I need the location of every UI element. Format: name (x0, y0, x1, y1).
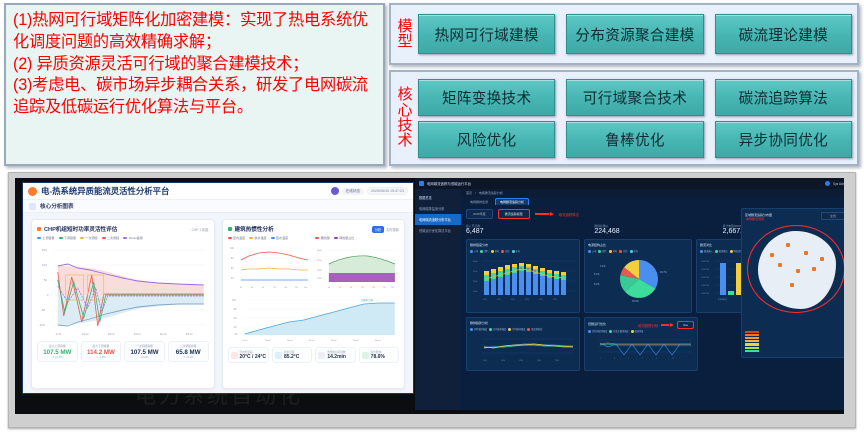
legend-label: 上调容量 (43, 236, 55, 240)
breadcrumb-sep: / (475, 191, 476, 195)
env-value: 20°C / 24°C (240, 354, 267, 360)
metric-label: 二次调频容量 (170, 344, 207, 348)
light-dashboard-title: 电-热系统异质能流灵活性分析平台 (41, 185, 169, 197)
legend-item: 水电 (512, 249, 520, 253)
svg-text:12h: 12h (361, 287, 364, 289)
legend-item: 上调容量 (37, 236, 55, 240)
core-tech-band: 核 心 技 术 矩阵变换技术 可行域聚合技术 碳流追踪算法 风险优化 鲁棒优化 … (389, 70, 859, 166)
tech-box-3[interactable]: 风险优化 (418, 121, 555, 158)
dark-dashboard-title: 电网碳流追踪与低碳运行平台 (427, 181, 471, 186)
pie-label-1: 36.9% (632, 300, 640, 303)
svg-text:5: 5 (628, 358, 629, 360)
tech-box-row-1: 矩阵变换技术 可行域聚合技术 碳流追踪算法 (418, 79, 852, 116)
svg-text:1,000,000: 1,000,000 (701, 293, 709, 295)
legend-label: 回水温度 (276, 236, 288, 240)
dark-dashboard: 电网碳流追踪与低碳运行平台 Sys Admin 数据总览 电网碳排监测分析 电网… (415, 178, 844, 410)
heat-area-chart: 4000300020001000 0h4h8h12h16h20h24h (315, 242, 399, 292)
carbon-trend-line-chart: 00:0006:0012:0018:0023:00 (470, 333, 578, 363)
model-box-1[interactable]: 分布资源聚合建模 (566, 14, 703, 54)
svg-text:80: 80 (233, 308, 236, 311)
env-value: 85.2°C (284, 354, 299, 360)
metric-label: 一次调频容量 (126, 344, 163, 348)
tech-label-char-0: 核 (397, 87, 412, 102)
svg-text:100: 100 (231, 299, 236, 302)
building-card-title: 建筑热惯性分析 (235, 225, 274, 233)
svg-text:100: 100 (229, 247, 234, 250)
breadcrumb-home[interactable]: 首页 (466, 191, 472, 195)
svg-text:40: 40 (230, 277, 233, 280)
model-box-2[interactable]: 碳流理论建模 (715, 14, 852, 54)
light-dashboard-header: 电-热系统异质能流灵活性分析平台 在线状态 2025/06/30 15:47:2… (23, 183, 413, 200)
svg-text:3: 3 (614, 358, 615, 360)
legend-label: 火电 (592, 249, 596, 253)
stat-value: 224,468 (594, 228, 718, 235)
optimization-line-chart: 1357911 (588, 335, 696, 361)
legend-item: 实时碳排强度 (470, 327, 487, 331)
map-node[interactable] (790, 283, 794, 287)
svg-text:2,500,000: 2,500,000 (701, 269, 709, 271)
status-badge: 在线状态 (342, 188, 364, 195)
legend-item: 碳流输入 (700, 249, 713, 253)
legend-item: 蓄热量 (315, 236, 330, 240)
svg-text:1: 1 (600, 358, 601, 360)
pie-label-2: 8.2% (594, 283, 600, 286)
env-metric: 室内外温差 20°C / 24°C (228, 347, 270, 363)
legend-item: 一次调频 (80, 236, 98, 240)
annotation-arrow-filter (535, 212, 554, 216)
metric-value: 107.5 MW (126, 349, 163, 356)
legend-label: 燃气 (602, 249, 606, 253)
metric-card: 最大下调容量 114.2 MW ↘ -1.8% (81, 341, 122, 362)
svg-text:3000: 3000 (317, 260, 323, 262)
stat-nodes: 接入节点数 6,487 (466, 224, 590, 235)
svg-text:4000: 4000 (473, 261, 478, 263)
building-legend-right: 蓄热量 释热量占比 (315, 236, 399, 240)
flame-icon (28, 187, 37, 196)
legend-label: 光伏 (623, 249, 627, 253)
legend-label: 月均碳排强度 (512, 327, 525, 331)
clock-icon (318, 352, 325, 359)
legend-item: 碳流基准线 (527, 327, 542, 331)
svg-text:50min: 50min (352, 340, 359, 342)
svg-text:80: 80 (230, 257, 233, 260)
svg-text:8h: 8h (350, 287, 352, 289)
annotation-line-label: 碳流趋势分析 (638, 323, 658, 328)
metric-label: 最大上调容量 (39, 344, 76, 348)
carbon-trend-panel: 碳排趋势分析 实时碳排强度 日均碳排强度 月均碳排强度 碳流基准线 (466, 317, 580, 371)
chp-card-header-right: CHP-1 机组 (192, 227, 209, 232)
water-drop-icon (275, 352, 282, 359)
panel-title: 碳排趋势分析 (470, 321, 576, 325)
svg-text:20: 20 (234, 333, 237, 336)
legend-label: 优化前碳排强度 (592, 329, 607, 333)
legend-label: 水电 (516, 249, 520, 253)
legend-label: 水电 (634, 249, 638, 253)
achievement-line-3: (3)考虑电、碳市场异步耦合关系，研发了电网碳流追踪及低碳运行优化算法与平台。 (13, 75, 377, 119)
tech-label-char-3: 术 (397, 133, 412, 148)
env-value: 14.2min (327, 354, 346, 360)
metric-value: 114.2 MW (83, 349, 120, 356)
metric-sub: +0.9% (126, 356, 163, 359)
svg-text:3000: 3000 (473, 271, 478, 273)
metric-card: 二次调频容量 65.8 MW ↗ +3.1% (168, 341, 209, 362)
svg-text:10min: 10min (82, 332, 90, 336)
svg-text:06:00: 06:00 (501, 360, 505, 362)
legend-item: 光伏 (619, 249, 627, 253)
light-dashboard-header-right: 在线状态 2025/06/30 15:47:23 (331, 187, 408, 195)
map-annotation-label: 电网碳流溯源 (746, 217, 764, 221)
svg-text:30min: 30min (308, 340, 315, 342)
legend-label: 碳流输出 (719, 249, 728, 253)
legend-label: 火电 (474, 249, 478, 253)
legend-label: 优化后碳排强度 (613, 329, 628, 333)
metric-card: 一次调频容量 107.5 MW +0.9% (124, 341, 165, 362)
svg-text:60: 60 (230, 267, 233, 270)
svg-text:18:00: 18:00 (537, 360, 541, 362)
svg-text:05月: 05月 (511, 297, 515, 301)
map-node[interactable] (804, 251, 808, 255)
legend-item: 优化后碳排强度 (609, 329, 628, 333)
cumulative-saving-area-chart: 10080604020 节能率上限 0min10min20min30min 40… (228, 294, 400, 344)
svg-text:03月: 03月 (497, 297, 501, 301)
svg-text:0h: 0h (328, 287, 330, 289)
env-metric: 综合能效 78.6% (359, 347, 399, 363)
svg-text:0min: 0min (242, 340, 248, 342)
metric-sub: ↗ +3.1% (170, 356, 207, 359)
power-mix-panel: 电源结构占比 火电 燃气 风电 光伏 水电 (584, 239, 692, 313)
svg-text:40min: 40min (330, 340, 337, 342)
tech-label-char-1: 心 (397, 103, 412, 118)
dark-dashboard-topbar-right: Sys Admin (825, 181, 844, 186)
avatar[interactable] (825, 181, 830, 186)
svg-text:11: 11 (672, 358, 674, 360)
dark-tabs: 电网碳排监测 电网碳流追踪分析 (461, 197, 844, 206)
chp-metrics: 最大上调容量 107.5 MW ↗ +2.3% 最大下调容量 114.2 MW … (37, 341, 209, 362)
svg-text:0min: 0min (56, 332, 62, 336)
legend-item: 回水温度 (271, 236, 289, 240)
svg-text:12h: 12h (272, 287, 275, 289)
opt-select[interactable]: line (677, 321, 694, 329)
map-node[interactable] (796, 269, 800, 273)
core-tech-band-label: 核 心 技 术 (394, 76, 416, 160)
pie-label-4: 3.1% (600, 265, 606, 268)
legend-label: 释热量占比 (339, 236, 354, 240)
screenshot-canvas: 电力系统自动化 电-热系统异质能流灵活性分析平台 在线状态 2025/06/30… (15, 178, 844, 414)
legend-item: 火电 (470, 249, 478, 253)
legend-label: 一次调频 (86, 236, 98, 240)
chp-card-header: CHP机组短时功率灵活性评估 CHP-1 机组 (37, 225, 209, 233)
map-node[interactable] (770, 253, 774, 257)
svg-text:24h: 24h (391, 287, 394, 289)
svg-text:10min: 10min (264, 340, 271, 342)
tech-box-5[interactable]: 异步协同优化 (715, 121, 852, 158)
tech-box-4[interactable]: 鲁棒优化 (566, 121, 703, 158)
core-tech-band-body: 矩阵变换技术 可行域聚合技术 碳流追踪算法 风险优化 鲁棒优化 异步协同优化 (416, 76, 852, 160)
svg-text:2000: 2000 (473, 281, 478, 283)
svg-text:20min: 20min (286, 340, 293, 342)
building-card-header: 建筑热惯性分析 分析 实时更新 (228, 225, 400, 233)
bar-icon (362, 352, 369, 359)
stacked-bar-chart: 4000300020001000 01月03月05月07月09月11月 (470, 255, 578, 303)
metric-label: 最大下调容量 (83, 344, 120, 348)
achievement-line-2: (2) 异质资源灵活可行域的聚合建模技术； (13, 54, 377, 76)
chart-icon (29, 203, 36, 210)
annotation-arrow-line (661, 323, 674, 327)
building-legend-left: 室内温度 供水温度 回水温度 (228, 236, 312, 240)
breadcrumb-current: 电网碳流追踪分析 (479, 191, 503, 195)
dark-dashboard-main: 数据总览 电网碳排监测分析 电网碳流追踪分析平台 低碳运行优化算法平台 首页 /… (415, 189, 844, 410)
metric-sub: ↗ +2.3% (39, 356, 76, 359)
breadcrumb: 首页 / 电网碳流追踪分析 (461, 189, 844, 197)
timestamp: 2025/06/30 15:47:23 (367, 187, 408, 195)
metric-sub: ↘ -1.8% (83, 356, 120, 359)
svg-text:20h: 20h (294, 287, 297, 289)
svg-text:07月: 07月 (525, 297, 529, 301)
chp-legend: 上调容量 下调容量 一次调频 二次调频 15min备用 (37, 236, 209, 240)
legend-item: 燃气 (598, 249, 606, 253)
svg-text:7: 7 (642, 358, 643, 360)
area-chart-annotation: 节能率上限 (360, 298, 373, 302)
legend-label: 风电 (495, 249, 499, 253)
legend-item: 日均碳排强度 (489, 327, 506, 331)
legend-label: 碳减排量 (635, 329, 644, 333)
tech-box-1[interactable]: 可行域聚合技术 (566, 79, 703, 116)
legend-item: 下调容量 (59, 236, 77, 240)
legend-item: 水电 (630, 249, 638, 253)
screenshot-frame: 电力系统自动化 电-热系统异质能流灵活性分析平台 在线状态 2025/06/30… (8, 172, 856, 428)
svg-text:4h: 4h (250, 287, 252, 289)
svg-text:-100: -100 (39, 323, 45, 327)
map-node[interactable] (812, 267, 816, 271)
svg-text:60: 60 (233, 317, 236, 320)
legend-item: 碳流输出 (715, 249, 728, 253)
svg-text:40min: 40min (160, 332, 168, 336)
dark-dashboard-topbar: 电网碳流追踪与低碳运行平台 Sys Admin (415, 178, 844, 189)
svg-text:2000: 2000 (317, 270, 323, 272)
svg-text:2,000,000: 2,000,000 (701, 277, 709, 279)
panel-title: 碳排强度分布 (470, 243, 576, 247)
model-box-row: 热网可行域建模 分布资源聚合建模 碳流理论建模 (418, 14, 852, 54)
legend-item: 燃气 (480, 249, 488, 253)
carbon-map-panel: 区域碳流追踪分布图 全省 电网碳流溯源 (741, 208, 844, 358)
legend-item: 月均碳排强度 (508, 327, 525, 331)
user-name: Sys Admin (833, 182, 844, 186)
sidebar-group-overview[interactable]: 数据总览 (415, 192, 461, 203)
model-band-label: 模 型 (394, 9, 416, 59)
tab-carbon-flow[interactable]: 电网碳流追踪分析 (495, 198, 529, 205)
sidebar-item-low-carbon-opt[interactable]: 低碳运行优化算法平台 (415, 225, 461, 236)
thermometer-icon (231, 352, 238, 359)
svg-text:00:00: 00:00 (483, 360, 487, 362)
svg-text:100: 100 (42, 263, 47, 267)
chp-flexibility-chart: 15010050 0-50-100 (37, 242, 209, 338)
legend-item: 风电 (609, 249, 617, 253)
legend-item: 15min备用 (123, 236, 143, 240)
svg-text:4h: 4h (339, 287, 341, 289)
sidebar-item-carbon-flow[interactable]: 电网碳流追踪分析平台 (415, 214, 461, 225)
metric-value: 65.8 MW (170, 349, 207, 356)
legend-label: 燃气 (484, 249, 488, 253)
legend-item: 供水温度 (249, 236, 267, 240)
legend-item: 碳减排量 (631, 329, 644, 333)
svg-text:24h: 24h (303, 287, 306, 289)
model-label-char-0: 模 (397, 19, 412, 34)
legend-item: 风电 (491, 249, 499, 253)
svg-text:0h: 0h (239, 287, 241, 289)
svg-text:50min: 50min (186, 332, 194, 336)
svg-text:150: 150 (42, 248, 47, 252)
legend-item: 室内温度 (228, 236, 246, 240)
stat-emission: 碳排总量(t) 224,468 (594, 224, 718, 235)
annotation-filter-label: 碳流追踪算法 (559, 212, 579, 217)
tab-carbon-monitor[interactable]: 电网碳排监测 (466, 199, 492, 205)
building-card-header-right: 分析 实时更新 (372, 226, 399, 233)
chp-flexibility-card: CHP机组短时功率灵活性评估 CHP-1 机组 上调容量 下调容量 一次调频 二… (31, 219, 215, 389)
legend-label: 供水温度 (255, 236, 267, 240)
legend-label: 碳流基准线 (531, 327, 542, 331)
map-node[interactable] (778, 263, 782, 267)
svg-text:9: 9 (656, 358, 657, 360)
svg-text:01月: 01月 (483, 297, 487, 301)
legend-label: 碳流输入 (704, 249, 713, 253)
svg-text:60min: 60min (374, 340, 381, 342)
year-select[interactable]: 2025年度 (466, 209, 493, 219)
platform-screenshot: 电力系统自动化 电-热系统异质能流灵活性分析平台 在线状态 2025/06/30… (8, 172, 856, 428)
legend-label: 实时碳排强度 (474, 327, 487, 331)
avatar[interactable] (331, 187, 339, 195)
stat-value: 6,487 (466, 228, 590, 235)
svg-text:12:00: 12:00 (519, 360, 523, 362)
bullet-icon (37, 227, 41, 231)
metric-value: 107.5 MW (39, 349, 76, 356)
panel-title: 电源结构占比 (588, 243, 688, 247)
map-node[interactable] (786, 243, 790, 247)
legend-label: 光伏 (505, 249, 509, 253)
pie-label-3: 5.1% (594, 273, 600, 276)
svg-text:-50: -50 (41, 308, 46, 312)
svg-text:40: 40 (233, 326, 236, 329)
chp-card-tag: CHP-1 机组 (192, 227, 209, 232)
pie-label-0: 46.7% (660, 271, 668, 274)
building-card-tag: 实时更新 (386, 227, 399, 232)
model-tech-stack: 模 型 热网可行域建模 分布资源聚合建模 碳流理论建模 核 心 技 术 矩阵变换 (389, 3, 859, 168)
panel-title: 低碳运行优化 (588, 322, 606, 326)
analyze-button[interactable]: 分析 (372, 226, 384, 233)
map-color-scale (745, 331, 759, 353)
svg-text:20h: 20h (383, 287, 386, 289)
svg-text:23:00: 23:00 (555, 360, 559, 362)
svg-text:3,000,000: 3,000,000 (701, 261, 709, 263)
svg-text:16h: 16h (283, 287, 286, 289)
dark-content: 首页 / 电网碳流追踪分析 电网碳排监测 电网碳流追踪分析 2025年度 碳流追… (461, 189, 844, 410)
svg-text:0: 0 (47, 293, 49, 297)
env-metric: 热惯性时间常数 14.2min (315, 347, 355, 363)
top-diagram-row: (1)热网可行域矩阵化加密建模：实现了热电系统优化调度问题的高效精确求解； (2… (0, 0, 864, 170)
svg-text:16h: 16h (372, 287, 375, 289)
model-band: 模 型 热网可行域建模 分布资源聚合建模 碳流理论建模 (389, 3, 859, 65)
panel-legend: 火电 燃气 风电 光伏 水电 (470, 249, 576, 253)
model-label-char-1: 型 (397, 34, 412, 49)
legend-item: 光伏 (501, 249, 509, 253)
bullet-icon (228, 227, 232, 231)
tech-box-0[interactable]: 矩阵变换技术 (418, 79, 555, 116)
tech-box-2[interactable]: 碳流追踪算法 (715, 79, 852, 116)
tech-box-row-2: 风险优化 鲁棒优化 异步协同优化 (418, 121, 852, 158)
svg-text:09月: 09月 (539, 297, 543, 301)
achievements-text-panel: (1)热网可行域矩阵化加密建模：实现了热电系统优化调度问题的高效精确求解； (2… (4, 3, 385, 166)
legend-item: 优化前碳排强度 (588, 329, 607, 333)
model-band-body: 热网可行域建模 分布资源聚合建模 碳流理论建模 (416, 9, 852, 59)
svg-text:8h: 8h (261, 287, 263, 289)
sidebar-item-carbon-monitor[interactable]: 电网碳排监测分析 (415, 203, 461, 214)
env-metric: 供水温度 85.2°C (272, 347, 312, 363)
power-mix-pie-chart: 46.7% 36.9% 8.2% 5.1% 3.1% (588, 255, 690, 303)
panel-legend: 实时碳排强度 日均碳排强度 月均碳排强度 碳流基准线 (470, 327, 576, 331)
panel-legend: 优化前碳排强度 优化后碳排强度 碳减排量 (588, 329, 694, 333)
metric-card: 最大上调容量 107.5 MW ↗ +2.3% (37, 341, 78, 362)
svg-text:11月: 11月 (553, 297, 557, 301)
subnav-label: 核心分析图表 (40, 202, 74, 210)
legend-label: 下调容量 (64, 236, 76, 240)
map-region-select[interactable]: 全省 (821, 212, 844, 220)
svg-text:1000: 1000 (317, 278, 323, 280)
model-box-0[interactable]: 热网可行域建模 (418, 14, 555, 54)
panel-legend: 火电 燃气 风电 光伏 水电 (588, 249, 688, 253)
svg-text:20min: 20min (108, 332, 116, 336)
carbon-intensity-panel: 碳排强度分布 火电 燃气 风电 光伏 水电 (466, 239, 580, 313)
legend-label: 二次调频 (107, 236, 119, 240)
legend-item: 二次调频 (102, 236, 120, 240)
legend-label: 日均碳排强度 (493, 327, 506, 331)
dark-sidebar: 数据总览 电网碳排监测分析 电网碳流追踪分析平台 低碳运行优化算法平台 (415, 189, 461, 410)
chp-card-title: CHP机组短时功率灵活性评估 (44, 225, 117, 233)
svg-text:发电侧碳流: 发电侧碳流 (718, 297, 727, 301)
legend-label: 室内温度 (233, 236, 245, 240)
legend-item: 火电 (588, 249, 596, 253)
building-inertia-card: 建筑热惯性分析 分析 实时更新 室内温度 供水温度 (222, 219, 406, 389)
legend-label: 风电 (613, 249, 617, 253)
svg-text:30min: 30min (134, 332, 142, 336)
svg-text:1,500,000: 1,500,000 (701, 285, 709, 287)
legend-label: 15min备用 (129, 236, 143, 240)
legend-item: 释热量占比 (334, 236, 355, 240)
svg-text:50: 50 (44, 278, 48, 282)
tech-label-char-2: 技 (397, 118, 412, 133)
building-env-metrics: 室内外温差 20°C / 24°C 供水温度 85.2°C (228, 347, 400, 363)
achievement-line-1: (1)热网可行域矩阵化加密建模：实现了热电系统优化调度问题的高效精确求解； (13, 10, 377, 54)
light-dashboard-body: CHP机组短时功率灵活性评估 CHP-1 机组 上调容量 下调容量 一次调频 二… (31, 219, 405, 389)
svg-text:4000: 4000 (317, 250, 323, 252)
temperature-line-chart: 100806040 0h4h8h12h16h20h24h (228, 242, 312, 292)
map-node[interactable] (820, 257, 824, 261)
svg-text:1000: 1000 (473, 291, 478, 293)
low-carbon-opt-panel: 低碳运行优化 碳流趋势分析 line 优化前碳排强度 优化后碳排强度 碳减排量 (584, 317, 698, 371)
legend-label: 蓄热量 (321, 236, 330, 240)
light-dashboard-subnav[interactable]: 核心分析图表 (23, 200, 413, 213)
env-value: 78.6% (371, 354, 385, 360)
light-dashboard: 电-热系统异质能流灵活性分析平台 在线状态 2025/06/30 15:47:2… (22, 182, 414, 394)
model-select[interactable]: 碳流追踪模型 (498, 209, 530, 219)
app-logo-icon (419, 181, 424, 186)
